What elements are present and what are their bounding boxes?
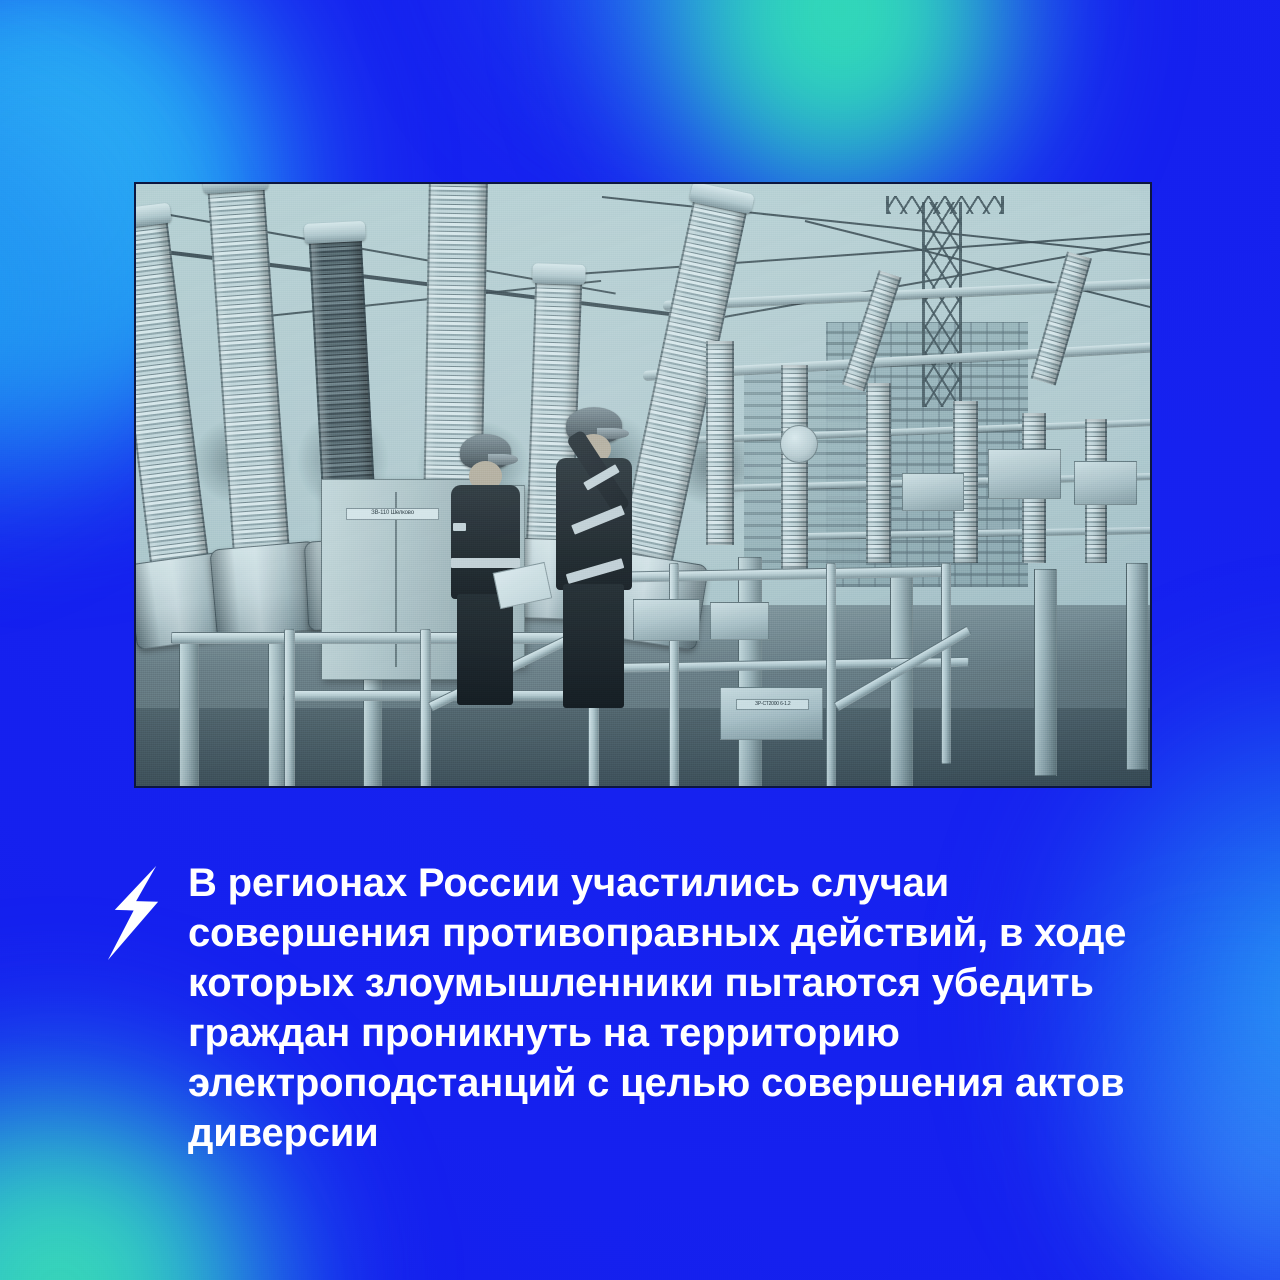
lattice-tower-crossarm (886, 196, 1004, 214)
reflective-stripe (453, 523, 466, 531)
switchgear-box (988, 449, 1061, 499)
support-leg (1126, 563, 1148, 770)
platform-post (420, 629, 431, 786)
caption-text: В регионах России участились случаи сове… (188, 858, 1184, 1158)
insulator-disc (780, 425, 819, 463)
lightning-bolt-icon (104, 864, 162, 967)
support-insulator (706, 341, 734, 546)
caption-block: В регионах России участились случаи сове… (104, 858, 1184, 1158)
support-insulator (781, 365, 808, 570)
infographic-card: ЗВ-110 Шелково ЗР-СТ2000 6-1.2 (0, 0, 1280, 1280)
platform-post (284, 629, 295, 786)
support-insulator (866, 383, 891, 564)
switchgear-box (1074, 461, 1137, 505)
worker-left (435, 434, 547, 705)
equipment-box (720, 687, 823, 740)
support-leg (1034, 569, 1056, 776)
equipment-box (710, 602, 769, 640)
blob-top-soft (430, 0, 1050, 200)
insulator-cap (202, 184, 269, 194)
reflective-stripe (451, 558, 520, 567)
insulator-cap (304, 221, 365, 244)
cabinet-label: ЗВ-110 Шелково (346, 508, 439, 520)
worker-legs (457, 594, 513, 705)
switchgear-box (902, 473, 965, 511)
platform-post (826, 563, 836, 786)
lattice-tower (922, 202, 962, 407)
insulator-cap (136, 203, 172, 231)
support-leg (179, 642, 199, 786)
substation-photo: ЗВ-110 Шелково ЗР-СТ2000 6-1.2 (134, 182, 1152, 788)
support-leg (738, 557, 761, 786)
insulator-cap (532, 264, 585, 286)
equipment-label: ЗР-СТ2000 6-1.2 (736, 699, 809, 710)
platform-post (941, 563, 951, 764)
worker-right (542, 407, 664, 708)
platform-post (669, 563, 679, 786)
worker-legs (563, 584, 624, 707)
